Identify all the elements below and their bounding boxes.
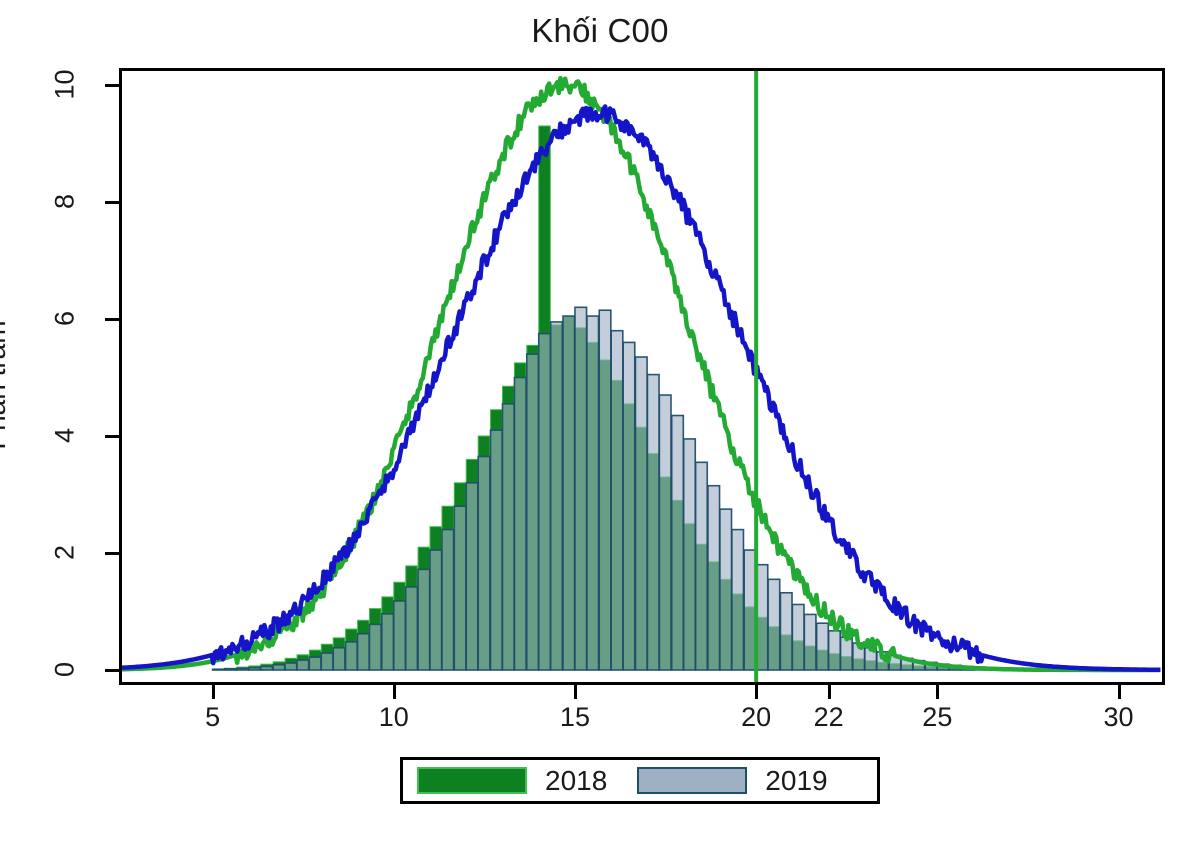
- x-tick-mark: [212, 684, 215, 699]
- y-tick-label: 8: [50, 180, 81, 224]
- y-tick-mark: [105, 84, 119, 87]
- chart-root: Khối C00 Phần trăm 0246810 5101520222530…: [0, 0, 1200, 841]
- bars-2019: [213, 307, 1058, 670]
- x-tick-mark: [393, 684, 396, 699]
- x-tick-label: 22: [799, 702, 859, 733]
- x-tick-label: 20: [726, 702, 786, 733]
- x-tick-label: 15: [545, 702, 605, 733]
- chart-legend: 20182019: [400, 757, 880, 804]
- x-tick-mark: [1118, 684, 1121, 699]
- x-tick-mark: [936, 684, 939, 699]
- plot-area: [119, 68, 1165, 685]
- legend-swatch-2019: [637, 767, 747, 794]
- x-tick-label: 30: [1089, 702, 1149, 733]
- plot-svg: [122, 71, 1162, 682]
- chart-title: Khối C00: [0, 12, 1200, 50]
- x-tick-label: 10: [364, 702, 424, 733]
- y-tick-label: 10: [50, 63, 81, 107]
- x-tick-mark: [755, 684, 758, 699]
- x-tick-label: 25: [907, 702, 967, 733]
- x-tick-label: 5: [183, 702, 243, 733]
- legend-entry-2018[interactable]: 2018: [417, 765, 629, 797]
- legend-entry-2019[interactable]: 2019: [637, 765, 849, 797]
- legend-label-2018: 2018: [545, 765, 607, 797]
- y-tick-label: 0: [50, 648, 81, 692]
- y-axis-title: Phần trăm: [0, 285, 12, 485]
- y-tick-mark: [105, 669, 119, 672]
- y-tick-mark: [105, 201, 119, 204]
- y-tick-mark: [105, 552, 119, 555]
- legend-swatch-2018: [417, 767, 527, 794]
- y-tick-label: 2: [50, 531, 81, 575]
- legend-label-2019: 2019: [765, 765, 827, 797]
- y-tick-label: 4: [50, 414, 81, 458]
- x-tick-mark: [828, 684, 831, 699]
- x-tick-mark: [574, 684, 577, 699]
- y-tick-label: 6: [50, 297, 81, 341]
- y-tick-mark: [105, 318, 119, 321]
- y-tick-mark: [105, 435, 119, 438]
